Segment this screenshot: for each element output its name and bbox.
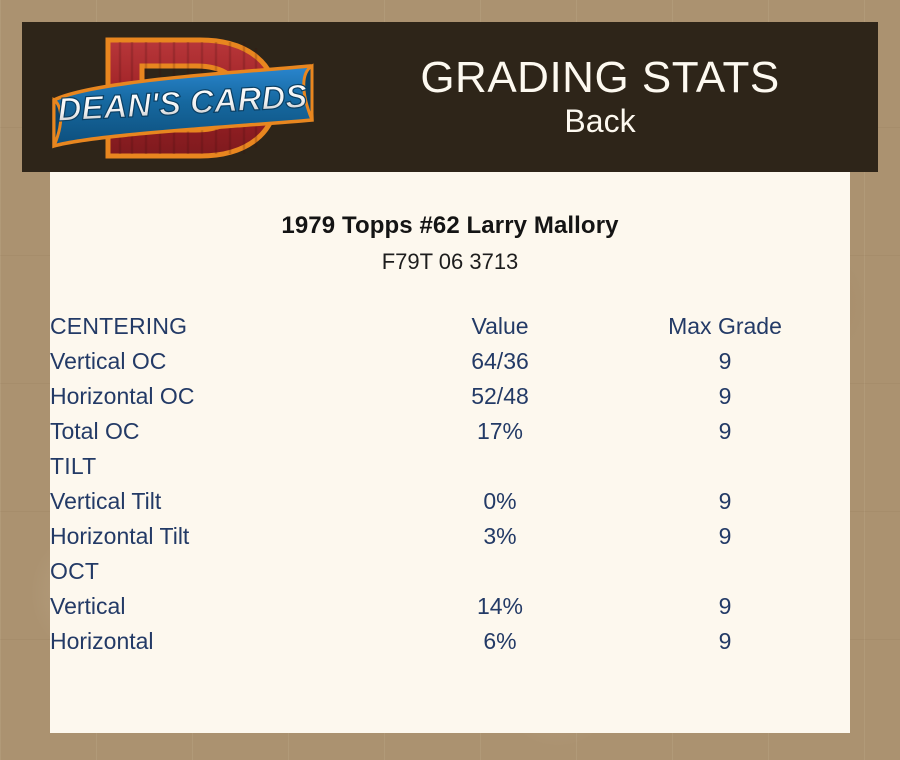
- table-row: Vertical OC64/369: [50, 344, 850, 379]
- stat-label: Vertical: [50, 589, 400, 624]
- stat-label: Horizontal OC: [50, 379, 400, 414]
- grading-stats-table: CENTERINGValueMax GradeVertical OC64/369…: [50, 309, 850, 659]
- column-header-max-grade: Max Grade: [600, 309, 850, 344]
- stat-max-grade: 9: [600, 484, 850, 519]
- section-header-label: TILT: [50, 449, 400, 484]
- table-row: Vertical Tilt0%9: [50, 484, 850, 519]
- page-subtitle: Back: [564, 104, 635, 139]
- section-header-spacer: [400, 554, 600, 589]
- deans-cards-logo: DEAN'S CARDS: [50, 28, 320, 168]
- stat-max-grade: 9: [600, 344, 850, 379]
- stat-value: 3%: [400, 519, 600, 554]
- table-row: Vertical14%9: [50, 589, 850, 624]
- stat-value: 0%: [400, 484, 600, 519]
- table-row: Horizontal6%9: [50, 624, 850, 659]
- stat-value: 52/48: [400, 379, 600, 414]
- stat-label: Vertical Tilt: [50, 484, 400, 519]
- table-row: Horizontal OC52/489: [50, 379, 850, 414]
- section-header-row: TILT: [50, 449, 850, 484]
- card-serial-number: F79T 06 3713: [50, 249, 850, 275]
- logo-graphic: DEAN'S CARDS: [50, 28, 320, 168]
- stat-max-grade: 9: [600, 519, 850, 554]
- header-title-block: GRADING STATS Back: [322, 22, 878, 172]
- stat-label: Horizontal: [50, 624, 400, 659]
- stat-value: 17%: [400, 414, 600, 449]
- section-header-label: CENTERING: [50, 309, 400, 344]
- stat-label: Horizontal Tilt: [50, 519, 400, 554]
- page-title: GRADING STATS: [420, 55, 779, 101]
- content-panel: 1979 Topps #62 Larry Mallory F79T 06 371…: [50, 172, 850, 733]
- section-header-row: CENTERINGValueMax Grade: [50, 309, 850, 344]
- stat-value: 6%: [400, 624, 600, 659]
- section-header-spacer: [600, 554, 850, 589]
- stat-value: 14%: [400, 589, 600, 624]
- stat-label: Total OC: [50, 414, 400, 449]
- column-header-value: Value: [400, 309, 600, 344]
- section-header-row: OCT: [50, 554, 850, 589]
- section-header-label: OCT: [50, 554, 400, 589]
- section-header-spacer: [400, 449, 600, 484]
- table-row: Total OC17%9: [50, 414, 850, 449]
- section-header-spacer: [600, 449, 850, 484]
- stat-label: Vertical OC: [50, 344, 400, 379]
- stat-value: 64/36: [400, 344, 600, 379]
- card-title: 1979 Topps #62 Larry Mallory: [50, 212, 850, 240]
- table-row: Horizontal Tilt3%9: [50, 519, 850, 554]
- stat-max-grade: 9: [600, 379, 850, 414]
- stat-max-grade: 9: [600, 624, 850, 659]
- stat-max-grade: 9: [600, 414, 850, 449]
- stat-max-grade: 9: [600, 589, 850, 624]
- header-bar: DEAN'S CARDS GRADING STATS Back: [22, 22, 878, 172]
- stats-table-body: CENTERINGValueMax GradeVertical OC64/369…: [50, 309, 850, 659]
